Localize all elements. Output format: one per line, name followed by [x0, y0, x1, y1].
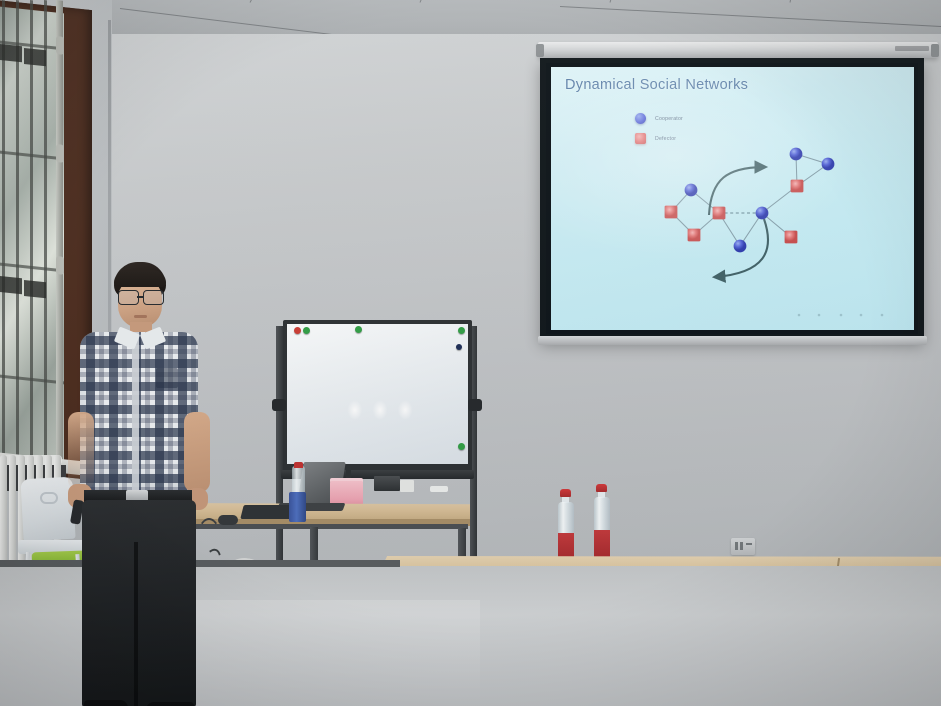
network-node-cooperator [685, 184, 698, 197]
presenter-shirt [80, 332, 198, 496]
presenter-arm-left [68, 412, 94, 490]
projected-slide: Dynamical Social Networks Cooperator Def… [551, 67, 914, 330]
whiteboard-hinge-right [468, 399, 482, 411]
equipment-box-white [400, 480, 414, 492]
screen-housing-cap-left [536, 44, 544, 57]
glasses-icon [143, 290, 164, 305]
chair-handle-slot [40, 492, 58, 504]
presenter-mouth [134, 315, 147, 318]
whiteboard-hinge-left [272, 399, 286, 411]
blue-cup[interactable] [289, 492, 306, 522]
presenter-shirt-pocket [156, 368, 178, 388]
network-node-cooperator [822, 158, 835, 171]
desk-bottle-cap [294, 462, 303, 468]
network-node-defector [713, 207, 726, 220]
whiteboard-magnet-green[interactable] [458, 327, 465, 334]
network-diagram [551, 67, 914, 330]
network-node-cooperator [756, 207, 769, 220]
network-node-defector [688, 229, 701, 242]
whiteboard-glare [345, 395, 415, 425]
network-node-defector [791, 180, 804, 193]
presenter-shoe-right [146, 702, 194, 706]
whiteboard-magnet-blue[interactable] [456, 344, 462, 350]
network-node-defector [785, 231, 798, 244]
presenter-trousers [82, 500, 196, 706]
whiteboard-eraser[interactable] [430, 486, 448, 492]
presenter[interactable] [60, 262, 235, 706]
projector-screen-housing [538, 42, 938, 58]
glasses-icon [118, 290, 139, 305]
screen-housing-cap-right [931, 44, 939, 57]
whiteboard-stand-left [276, 326, 283, 576]
whiteboard-surface[interactable] [287, 324, 468, 464]
wall-outlet[interactable] [731, 538, 755, 555]
window-handle-icon[interactable] [56, 144, 64, 163]
network-node-defector [665, 206, 678, 219]
presenter-arm-right [184, 412, 210, 492]
glasses-bridge [137, 296, 144, 298]
screen-housing-label [895, 46, 929, 51]
presenter-hair-fringe [114, 270, 166, 287]
equipment-box-dark [374, 476, 400, 491]
presenter-shirt-placket [132, 332, 139, 496]
screen-bottom-bar [538, 336, 927, 345]
whiteboard-magnet-green[interactable] [355, 326, 362, 333]
network-node-cooperator [790, 148, 803, 161]
presenter-trousers-seam [134, 542, 138, 706]
whiteboard-magnet-green[interactable] [303, 327, 310, 334]
presenter-shoe-left [84, 700, 128, 706]
window-handle-icon[interactable] [56, 36, 64, 55]
photo-scene: Dynamical Social Networks Cooperator Def… [0, 0, 941, 706]
whiteboard-magnet-green[interactable] [458, 443, 465, 450]
whiteboard-magnet-red[interactable] [294, 327, 301, 334]
network-node-cooperator [734, 240, 747, 253]
